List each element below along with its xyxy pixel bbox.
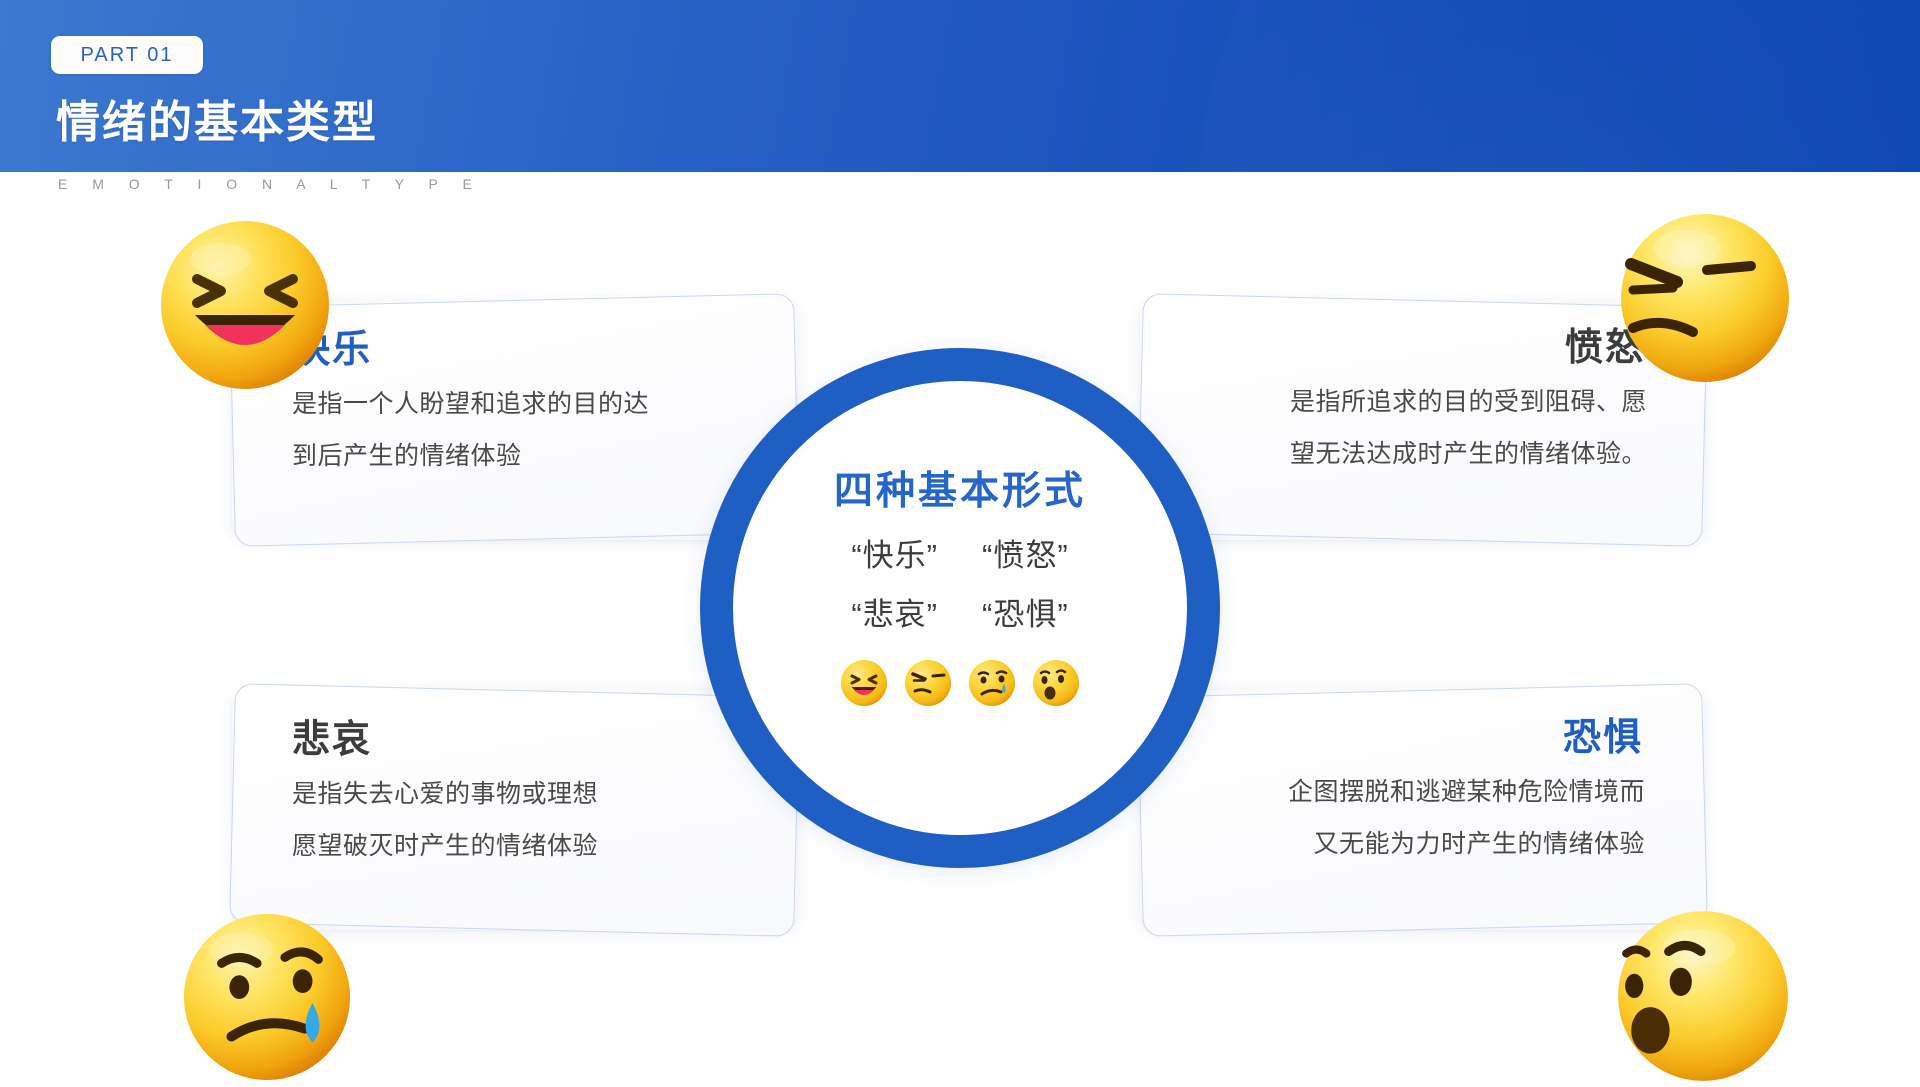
slide-header: PART 01 情绪的基本类型 [0, 0, 1920, 172]
card-body: 恐惧 企图摆脱和逃避某种危险情境而 又无能为力时产生的情绪体验 [1140, 690, 1705, 930]
card-fear-title: 恐惧 [1563, 706, 1643, 761]
crying-emoji [178, 908, 356, 1086]
card-sad-desc-line1: 是指失去心爱的事物或理想 [292, 768, 598, 820]
crying-emoji [967, 658, 1017, 708]
card-fear-desc: 企图摆脱和逃避某种危险情境而 又无能为力时产生的情绪体验 [1288, 766, 1645, 870]
surprised-emoji [1031, 658, 1081, 708]
card-fear-desc-line1: 企图摆脱和逃避某种危险情境而 [1288, 766, 1645, 818]
surprised-emoji [1612, 905, 1794, 1087]
center-emoji-row [839, 658, 1081, 708]
center-term-fear: “恐惧” [982, 589, 1069, 634]
part-badge-label: PART 01 [81, 44, 174, 67]
center-content: 四种基本形式 “快乐” “愤怒” “悲哀” “恐惧” [700, 348, 1220, 868]
page-subtitle: E M O T I O N A L T Y P E [58, 176, 482, 192]
card-sad-desc-line2: 愿望破灭时产生的情绪体验 [292, 820, 598, 872]
page-title: 情绪的基本类型 [56, 86, 378, 150]
laughing-emoji [155, 215, 335, 395]
card-sad-title: 悲哀 [292, 708, 372, 763]
card-happy-desc: 是指一个人盼望和追求的目的达 到后产生的情绪体验 [292, 378, 649, 482]
card-fear[interactable]: 恐惧 企图摆脱和逃避某种危险情境而 又无能为力时产生的情绪体验 [1140, 690, 1705, 930]
card-anger-desc-line2: 望无法达成时产生的情绪体验。 [1290, 428, 1647, 480]
center-term-anger: “愤怒” [982, 530, 1069, 575]
center-row-1: “快乐” “愤怒” [851, 530, 1068, 575]
center-term-sad: “悲哀” [851, 589, 938, 634]
angry-emoji [1615, 208, 1795, 388]
center-title: 四种基本形式 [834, 460, 1086, 516]
card-anger-desc-line1: 是指所追求的目的受到阻碍、愿 [1290, 376, 1647, 428]
card-happy-desc-line1: 是指一个人盼望和追求的目的达 [292, 378, 649, 430]
center-term-happy: “快乐” [851, 530, 938, 575]
part-badge: PART 01 [51, 36, 203, 74]
angry-emoji [903, 658, 953, 708]
center-row-2: “悲哀” “恐惧” [851, 589, 1068, 634]
card-fear-desc-line2: 又无能为力时产生的情绪体验 [1288, 818, 1645, 870]
laughing-emoji [839, 658, 889, 708]
card-sad-desc: 是指失去心爱的事物或理想 愿望破灭时产生的情绪体验 [292, 768, 598, 872]
card-happy-desc-line2: 到后产生的情绪体验 [292, 430, 649, 482]
slide-root: PART 01 情绪的基本类型 E M O T I O N A L T Y P … [0, 0, 1920, 1080]
card-anger-desc: 是指所追求的目的受到阻碍、愿 望无法达成时产生的情绪体验。 [1290, 376, 1647, 480]
